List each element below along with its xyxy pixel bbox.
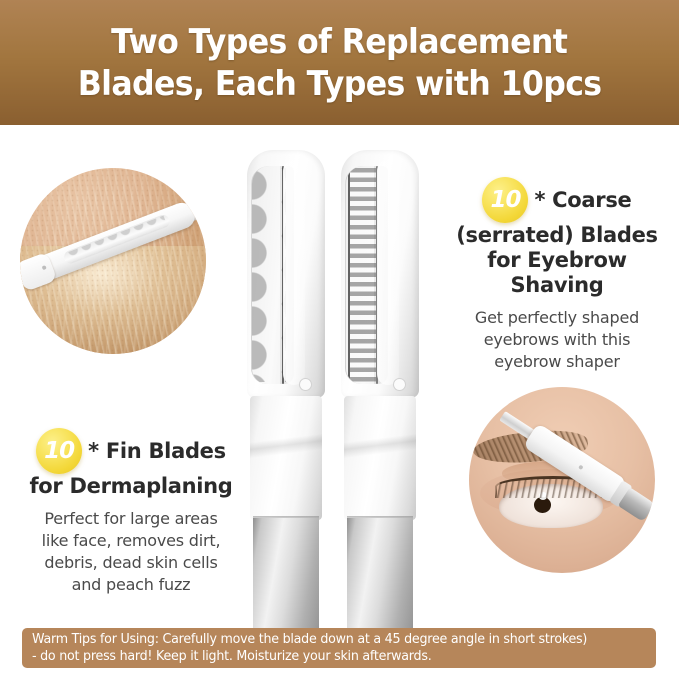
razor-release-button-icon <box>393 378 406 391</box>
badge-row: 10 * Fin Blades <box>16 428 246 474</box>
count-badge-value: 10 <box>44 440 74 463</box>
page-title-line-1: Two Types of Replacement <box>111 21 567 63</box>
count-badge-10: 10 <box>482 177 528 223</box>
callout-heading-line-3: for Eyebrow Shaving <box>440 248 674 298</box>
razor-head-highlight <box>283 160 305 385</box>
fin-blade-pattern <box>252 168 286 382</box>
warm-tips-banner: Warm Tips for Using: Carefully move the … <box>22 628 656 668</box>
page-title-line-2: Blades, Each Types with 10pcs <box>78 63 602 105</box>
warm-tips-line-1: Warm Tips for Using: Carefully move the … <box>32 631 587 648</box>
razor-midsection <box>344 396 416 520</box>
callout-body: Get perfectly shaped eyebrows with this … <box>440 307 674 373</box>
product-pair <box>247 150 433 655</box>
callout-heading-line-2: (serrated) Blades <box>440 223 674 248</box>
callout-body-line: Get perfectly shaped <box>440 307 674 329</box>
callout-body-line: eyebrows with this <box>440 329 674 351</box>
razor-head-highlight <box>377 160 399 385</box>
razor-release-button-icon <box>299 378 312 391</box>
razor-head <box>247 150 325 398</box>
callout-heading-line-2: for Dermaplaning <box>16 474 246 499</box>
product-fin-blade-razor <box>247 150 325 655</box>
serrated-blade-pattern <box>350 168 376 382</box>
count-badge-value: 10 <box>490 189 520 212</box>
callout-body-line: and peach fuzz <box>16 574 246 596</box>
callout-coarse-blades: 10 * Coarse (serrated) Blades for Eyebro… <box>440 177 674 373</box>
badge-row: 10 * Coarse <box>440 177 674 223</box>
razor-midsection <box>250 396 322 520</box>
callout-heading-line-1: * Fin Blades <box>86 439 226 464</box>
warm-tips-text: Warm Tips for Using: Carefully move the … <box>32 631 601 665</box>
content-stage: 10 * Coarse (serrated) Blades for Eyebro… <box>0 125 679 679</box>
callout-body-line: debris, dead skin cells <box>16 552 246 574</box>
callout-body-line: Perfect for large areas <box>16 508 246 530</box>
header-banner: Two Types of Replacement Blades, Each Ty… <box>0 0 679 125</box>
photo-eyebrow <box>469 387 655 573</box>
callout-heading-line-1: * Coarse <box>532 188 631 213</box>
warm-tips-line-2: - do not press hard! Keep it light. Mois… <box>32 648 587 665</box>
razor-head <box>341 150 419 398</box>
product-coarse-blade-razor <box>341 150 419 655</box>
callout-body-line: eyebrow shaper <box>440 351 674 373</box>
photo-dermaplaning <box>20 168 206 354</box>
count-badge-10: 10 <box>36 428 82 474</box>
callout-body: Perfect for large areas like face, remov… <box>16 508 246 596</box>
callout-fin-blades: 10 * Fin Blades for Dermaplaning Perfect… <box>16 428 246 596</box>
callout-body-line: like face, removes dirt, <box>16 530 246 552</box>
